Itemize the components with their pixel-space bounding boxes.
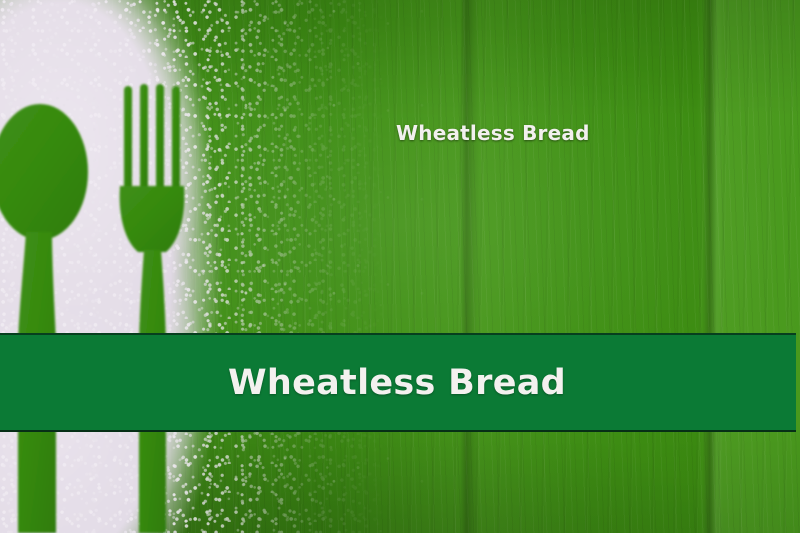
recipe-hero-card: Wheatless Bread Wheatless Bread (0, 0, 800, 533)
fork-icon (120, 84, 185, 533)
utensil-silhouettes (0, 0, 420, 533)
photo-overlay-title: Wheatless Bread (396, 121, 590, 145)
title-banner: Wheatless Bread (0, 333, 796, 432)
spoon-icon (0, 104, 88, 533)
banner-title: Wheatless Bread (228, 363, 566, 403)
